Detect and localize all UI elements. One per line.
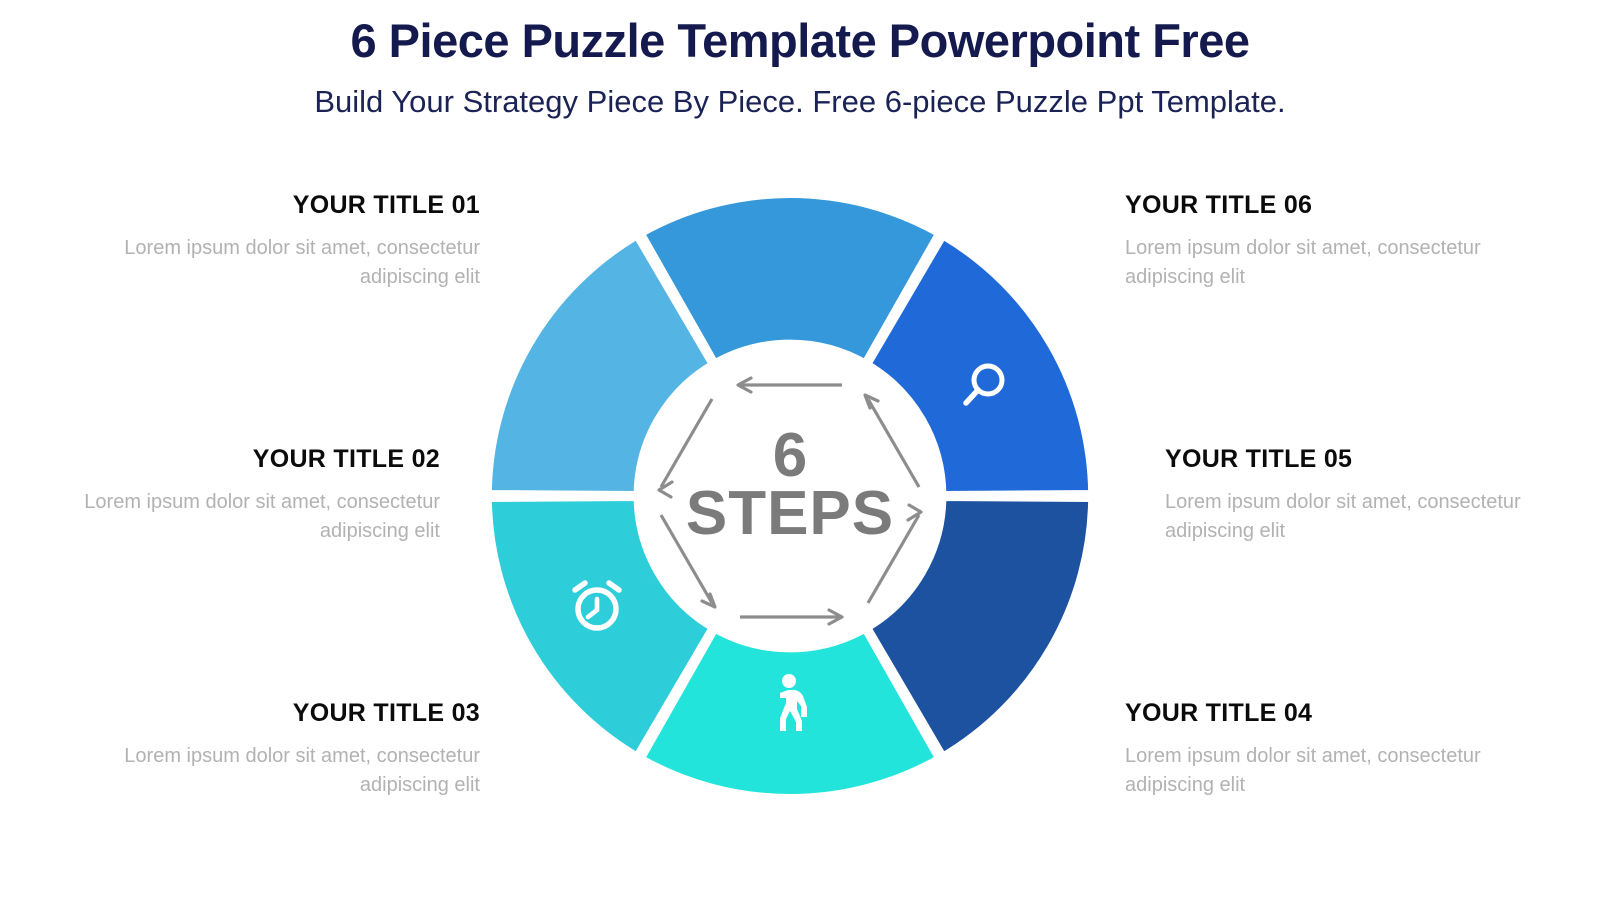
label-desc-02: Lorem ipsum dolor sit amet, consectetur … xyxy=(80,488,440,546)
label-title-03: YOUR TITLE 03 xyxy=(120,700,480,728)
label-desc-05: Lorem ipsum dolor sit amet, consectetur … xyxy=(1165,488,1525,546)
label-block-03[interactable]: YOUR TITLE 03 Lorem ipsum dolor sit amet… xyxy=(120,700,480,800)
puzzle-wheel-svg: 6 STEPS xyxy=(480,186,1100,806)
slide-header: 6 Piece Puzzle Template Powerpoint Free … xyxy=(0,14,1600,120)
label-title-06: YOUR TITLE 06 xyxy=(1125,192,1485,220)
label-block-01[interactable]: YOUR TITLE 01 Lorem ipsum dolor sit amet… xyxy=(120,192,480,292)
puzzle-wheel: 6 STEPS xyxy=(480,186,1100,806)
slide-canvas: 6 Piece Puzzle Template Powerpoint Free … xyxy=(0,0,1600,900)
label-desc-06: Lorem ipsum dolor sit amet, consectetur … xyxy=(1125,234,1485,292)
label-title-02: YOUR TITLE 02 xyxy=(80,446,440,474)
center-word: STEPS xyxy=(686,479,894,548)
label-desc-03: Lorem ipsum dolor sit amet, consectetur … xyxy=(120,742,480,800)
label-title-04: YOUR TITLE 04 xyxy=(1125,700,1485,728)
label-desc-01: Lorem ipsum dolor sit amet, consectetur … xyxy=(120,234,480,292)
label-block-06[interactable]: YOUR TITLE 06 Lorem ipsum dolor sit amet… xyxy=(1125,192,1485,292)
cycle-arrow-bottom xyxy=(740,610,842,624)
label-title-05: YOUR TITLE 05 xyxy=(1165,446,1525,474)
label-title-01: YOUR TITLE 01 xyxy=(120,192,480,220)
label-desc-04: Lorem ipsum dolor sit amet, consectetur … xyxy=(1125,742,1485,800)
page-subtitle: Build Your Strategy Piece By Piece. Free… xyxy=(0,83,1600,120)
cycle-arrow-top xyxy=(738,378,842,392)
page-title: 6 Piece Puzzle Template Powerpoint Free xyxy=(0,14,1600,69)
label-block-04[interactable]: YOUR TITLE 04 Lorem ipsum dolor sit amet… xyxy=(1125,700,1485,800)
label-block-05[interactable]: YOUR TITLE 05 Lorem ipsum dolor sit amet… xyxy=(1165,446,1525,546)
label-block-02[interactable]: YOUR TITLE 02 Lorem ipsum dolor sit amet… xyxy=(80,446,440,546)
